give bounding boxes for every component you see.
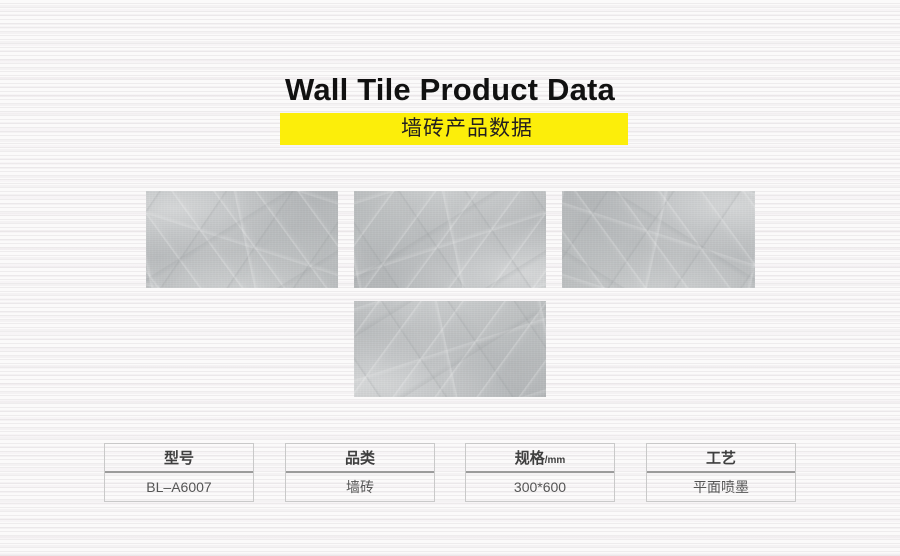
- spec-header-category-label: 品类: [345, 450, 375, 467]
- marble-grain: [354, 191, 546, 288]
- product-image-1[interactable]: [146, 191, 338, 288]
- spec-cell-category: 品类 墙砖: [285, 443, 435, 502]
- spec-header-model: 型号: [105, 444, 253, 473]
- spec-value-size: 300*600: [466, 473, 614, 501]
- product-image-4[interactable]: [354, 301, 546, 397]
- spec-value-process: 平面喷墨: [647, 473, 795, 501]
- product-image-2[interactable]: [354, 191, 546, 288]
- page-title-chinese: 墙砖产品数据: [280, 113, 628, 145]
- marble-grain: [354, 301, 546, 397]
- page-title-english: Wall Tile Product Data: [0, 71, 900, 109]
- spec-header-category: 品类: [286, 444, 434, 473]
- spec-header-size-unit: /mm: [545, 455, 566, 466]
- spec-header-size: 规格/mm: [466, 444, 614, 473]
- spec-header-process-label: 工艺: [706, 450, 736, 467]
- marble-grain: [562, 191, 755, 288]
- spec-value-model: BL–A6007: [105, 473, 253, 501]
- spec-header-process: 工艺: [647, 444, 795, 473]
- spec-header-model-label: 型号: [164, 450, 194, 467]
- marble-grain: [146, 191, 338, 288]
- spec-value-category: 墙砖: [286, 473, 434, 501]
- product-data-page: Wall Tile Product Data 墙砖产品数据 型号 BL–A600…: [0, 0, 900, 556]
- spec-cell-process: 工艺 平面喷墨: [646, 443, 796, 502]
- spec-cell-model: 型号 BL–A6007: [104, 443, 254, 502]
- spec-cell-size: 规格/mm 300*600: [465, 443, 615, 502]
- spec-header-size-label: 规格: [515, 450, 545, 467]
- product-image-3[interactable]: [562, 191, 755, 288]
